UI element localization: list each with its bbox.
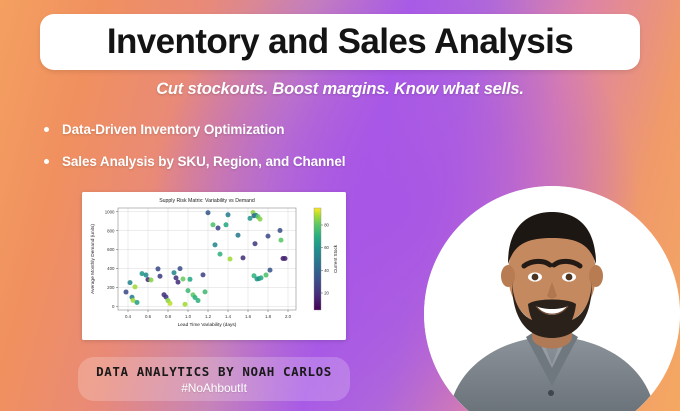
svg-text:2.0: 2.0 bbox=[285, 314, 292, 319]
portrait-illustration bbox=[424, 186, 680, 411]
svg-text:1000: 1000 bbox=[105, 209, 115, 214]
svg-text:Current Stock: Current Stock bbox=[333, 244, 338, 273]
list-item-label: Data-Driven Inventory Optimization bbox=[62, 122, 284, 137]
bullet-list: Data-Driven Inventory Optimization Sales… bbox=[44, 113, 444, 177]
svg-text:600: 600 bbox=[107, 247, 115, 252]
svg-text:Average Monthly Demand (units): Average Monthly Demand (units) bbox=[90, 224, 96, 294]
title-pill: Inventory and Sales Analysis bbox=[40, 14, 640, 70]
avatar-disc bbox=[424, 186, 680, 411]
svg-text:1.2: 1.2 bbox=[205, 314, 212, 319]
svg-text:60: 60 bbox=[324, 245, 329, 250]
bullet-dot-icon bbox=[44, 159, 49, 164]
footer-hashtag: #NoAhboutIt bbox=[181, 381, 247, 395]
chart-card: Supply Risk Matrix: Variability vs Deman… bbox=[82, 192, 346, 340]
svg-text:20: 20 bbox=[324, 291, 329, 296]
svg-text:1.0: 1.0 bbox=[185, 314, 192, 319]
slide-canvas: Inventory and Sales Analysis Cut stockou… bbox=[0, 0, 680, 411]
svg-text:0.8: 0.8 bbox=[165, 314, 172, 319]
svg-text:1.8: 1.8 bbox=[265, 314, 272, 319]
subtitle: Cut stockouts. Boost margins. Know what … bbox=[0, 80, 680, 99]
list-item: Sales Analysis by SKU, Region, and Chann… bbox=[44, 145, 444, 177]
footer-banner: DATA ANALYTICS BY NOAH CARLOS #NoAhboutI… bbox=[78, 357, 350, 401]
svg-text:1.6: 1.6 bbox=[245, 314, 252, 319]
scatter-chart: Supply Risk Matrix: Variability vs Deman… bbox=[82, 192, 346, 340]
bullet-dot-icon bbox=[44, 127, 49, 132]
page-title: Inventory and Sales Analysis bbox=[107, 22, 573, 62]
svg-text:0.4: 0.4 bbox=[125, 314, 132, 319]
avatar bbox=[424, 186, 680, 411]
svg-text:200: 200 bbox=[107, 285, 115, 290]
svg-text:1.4: 1.4 bbox=[225, 314, 232, 319]
svg-text:40: 40 bbox=[324, 268, 329, 273]
svg-text:Supply Risk Matrix: Variabilit: Supply Risk Matrix: Variability vs Deman… bbox=[159, 198, 255, 204]
svg-text:Lead Time Variability (days): Lead Time Variability (days) bbox=[178, 322, 237, 328]
list-item-label: Sales Analysis by SKU, Region, and Chann… bbox=[62, 154, 345, 169]
list-item: Data-Driven Inventory Optimization bbox=[44, 113, 444, 145]
svg-text:0.6: 0.6 bbox=[145, 314, 152, 319]
footer-title: DATA ANALYTICS BY NOAH CARLOS bbox=[96, 364, 332, 379]
svg-text:400: 400 bbox=[107, 266, 115, 271]
svg-text:800: 800 bbox=[107, 228, 115, 233]
svg-text:80: 80 bbox=[324, 223, 329, 228]
